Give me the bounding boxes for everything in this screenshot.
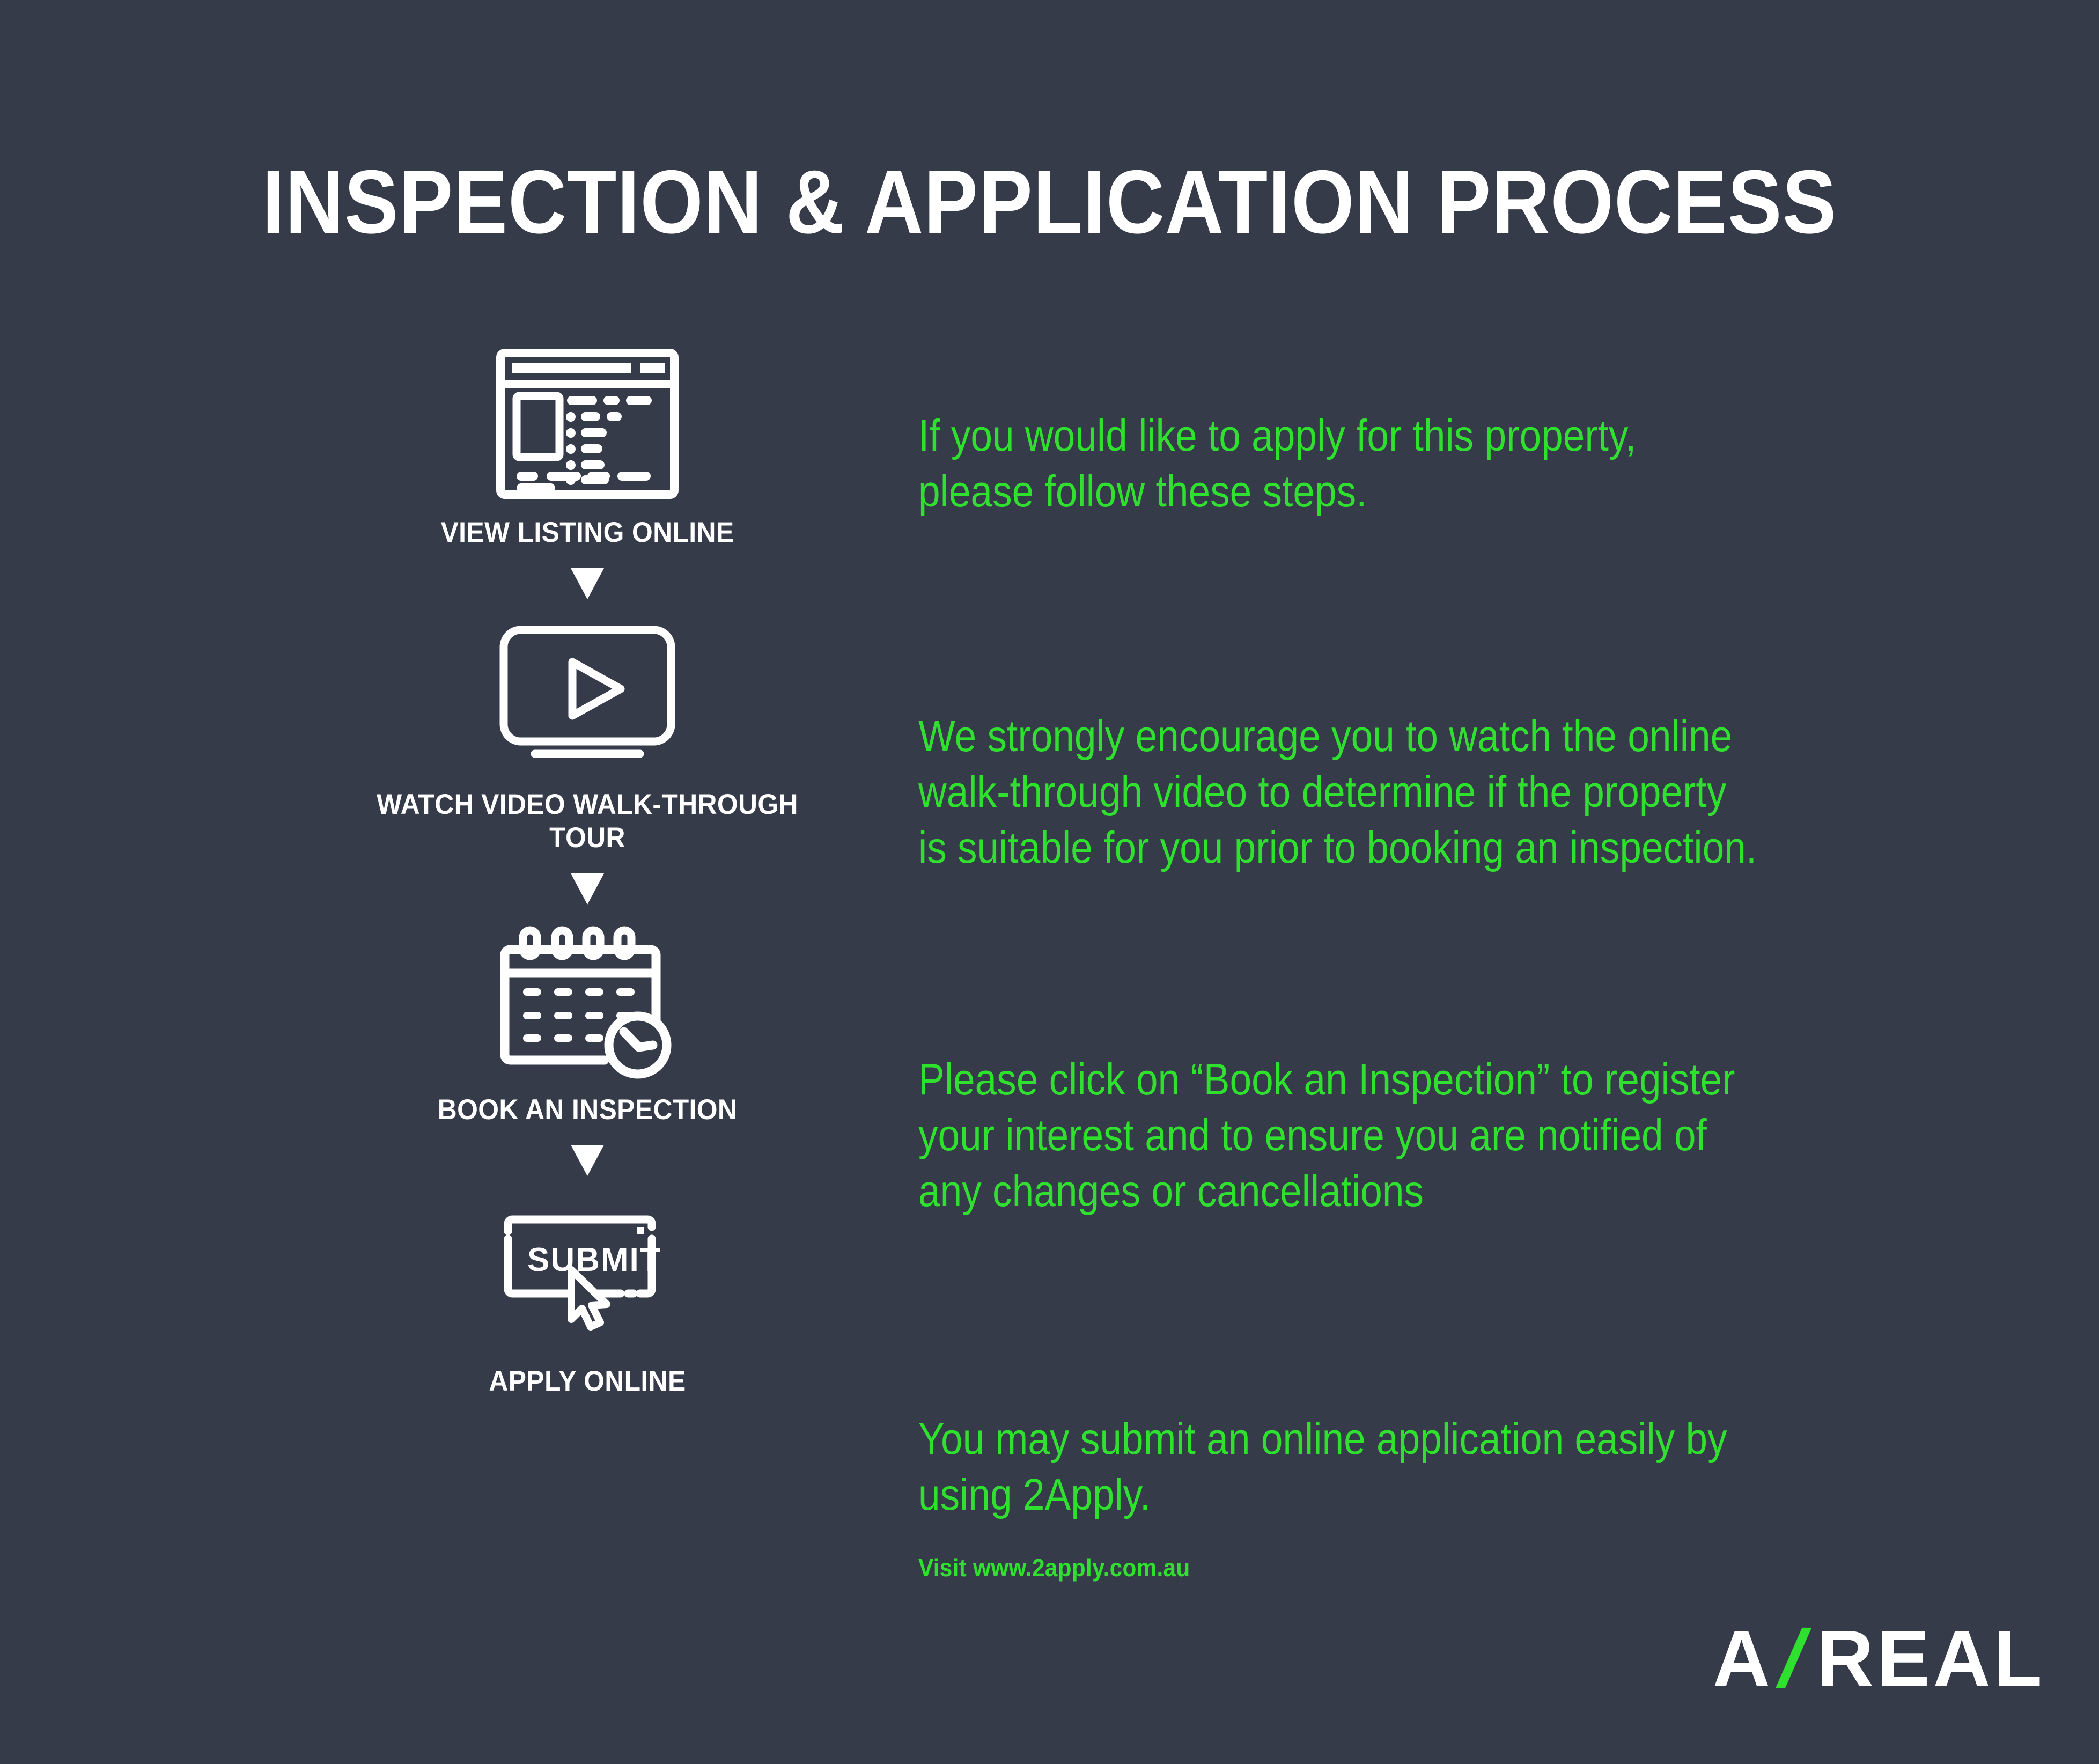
step-label: APPLY ONLINE bbox=[365, 1365, 809, 1399]
triangle-down-icon bbox=[351, 873, 823, 907]
triangle-down-icon bbox=[351, 568, 823, 601]
submit-button-cursor-icon-wrap: SUBMIT bbox=[351, 1192, 823, 1353]
visit-url-text[interactable]: Visit www.2apply.com.au bbox=[918, 1553, 1190, 1582]
submit-button-cursor-icon: SUBMIT bbox=[496, 1206, 679, 1340]
steps-column: VIEW LISTING ONLINE WATCH VIDEO WALK-THR… bbox=[351, 343, 823, 1399]
video-play-monitor-icon bbox=[496, 623, 679, 768]
step-apply-online: SUBMIT APPLY ONLINE bbox=[351, 1192, 823, 1399]
listing-window-icon bbox=[496, 349, 679, 499]
copy-text-watch-video: We strongly encourage you to watch the o… bbox=[918, 708, 1757, 875]
copy-text-book-inspection: Please click on “Book an Inspection” to … bbox=[918, 1052, 1735, 1218]
page-title: INSPECTION & APPLICATION PROCESS bbox=[105, 155, 1994, 249]
copy-text-apply-online: You may submit an online application eas… bbox=[918, 1411, 1727, 1523]
submit-icon-text: SUBMIT bbox=[527, 1241, 661, 1278]
video-play-monitor-icon-wrap bbox=[351, 615, 823, 776]
step-label: WATCH VIDEO WALK-THROUGH TOUR bbox=[365, 788, 809, 855]
step-watch-video-walk-through-tour: WATCH VIDEO WALK-THROUGH TOUR bbox=[351, 615, 823, 855]
logo-word-real: REAL bbox=[1816, 1619, 2045, 1699]
triangle-down-icon bbox=[351, 1145, 823, 1178]
calendar-clock-icon-wrap bbox=[351, 921, 823, 1082]
logo-slash-icon: / bbox=[1772, 1618, 1818, 1700]
listing-window-icon-wrap bbox=[351, 343, 823, 504]
step-book-an-inspection: BOOK AN INSPECTION bbox=[351, 921, 823, 1127]
step-view-listing-online: VIEW LISTING ONLINE bbox=[351, 343, 823, 550]
step-label: BOOK AN INSPECTION bbox=[365, 1093, 809, 1127]
poster-canvas: INSPECTION & APPLICATION PROCESS bbox=[0, 0, 2099, 1764]
areal-logo: A / REAL bbox=[1713, 1618, 2045, 1700]
logo-letter-a: A bbox=[1713, 1619, 1773, 1699]
step-label: VIEW LISTING ONLINE bbox=[365, 516, 809, 550]
calendar-clock-icon bbox=[496, 921, 679, 1082]
copy-text-view-listing: If you would like to apply for this prop… bbox=[918, 408, 1636, 519]
